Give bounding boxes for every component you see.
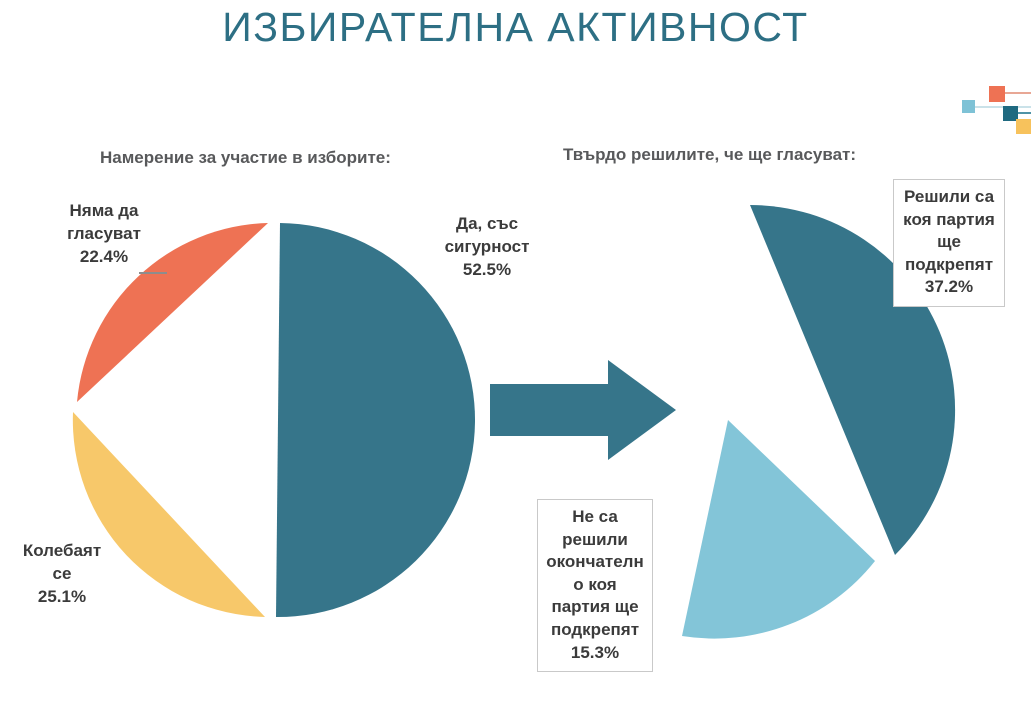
callout-undecided: Не са решили окончателн о коя партия ще …: [537, 499, 653, 672]
slide-canvas: ИЗБИРАТЕЛНА АКТИВНОСТ Намерение за участ…: [0, 0, 1031, 720]
callout-decided: Решили са коя партия ще подкрепят 37.2%: [893, 179, 1005, 307]
page-title: ИЗБИРАТЕЛНА АКТИВНОСТ: [0, 4, 1031, 51]
subtitle-decided: Твърдо решилите, че ще гласуват:: [563, 145, 856, 165]
yellow-square-icon: [1016, 119, 1031, 134]
light-blue-square-icon: [962, 100, 975, 113]
pie-label-no-vote: Няма да гласуват 22.4%: [36, 200, 172, 269]
pie-label-yes-sure: Да, със сигурност 52.5%: [412, 213, 562, 282]
pie-slice-yes-sure[interactable]: [276, 223, 475, 617]
decorative-squares-motif: [958, 82, 1031, 134]
leader-line-no-vote: [139, 272, 167, 274]
orange-square-icon: [989, 86, 1005, 102]
subtitle-intention: Намерение за участие в изборите:: [100, 148, 391, 168]
pie-slice-undecided[interactable]: [682, 420, 875, 639]
pie-label-hesitate: Колебаят се 25.1%: [0, 540, 126, 609]
dark-teal-square-icon: [1003, 106, 1018, 121]
